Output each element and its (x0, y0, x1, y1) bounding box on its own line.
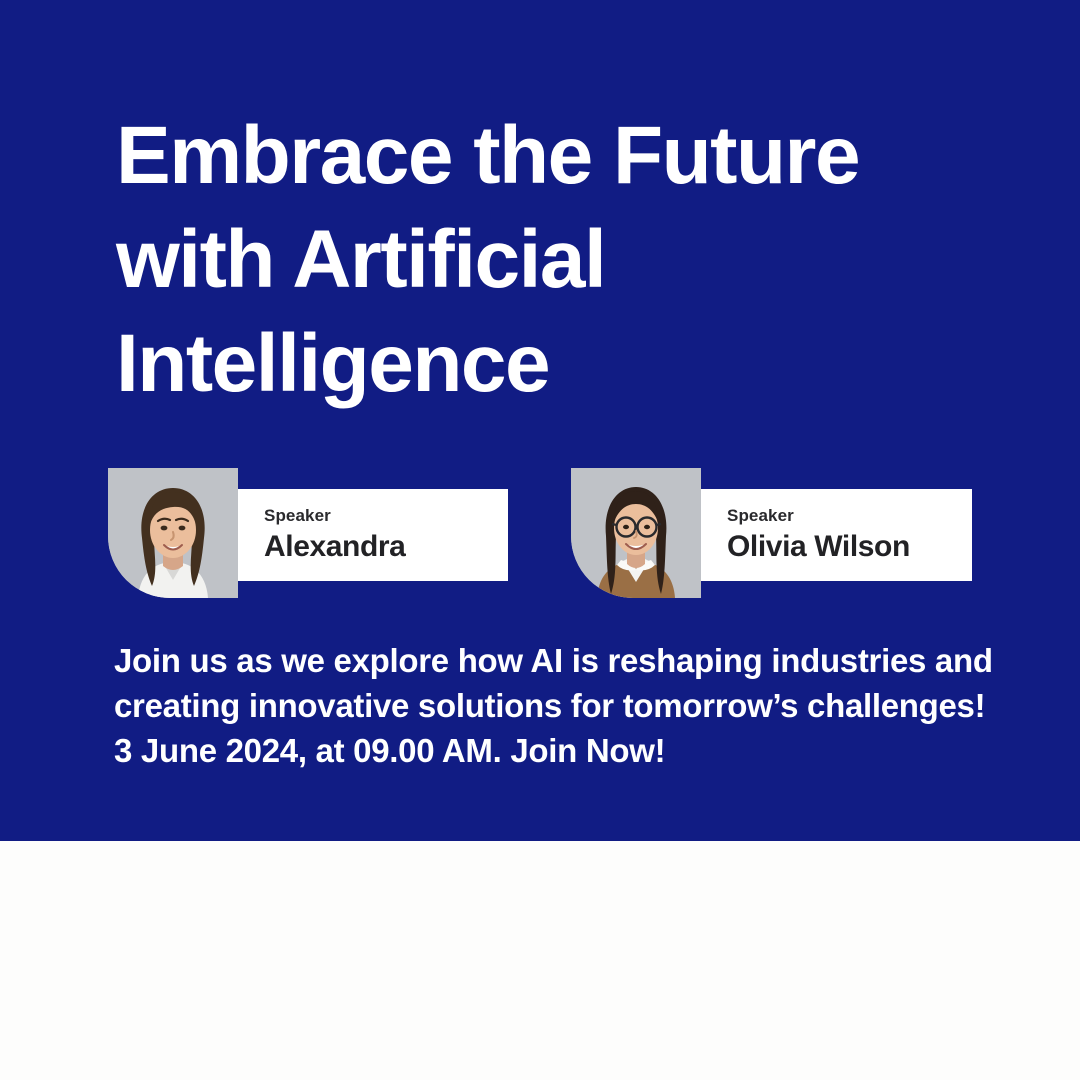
speaker-2-info: Speaker Olivia Wilson (701, 489, 972, 581)
speaker-card-2: Speaker Olivia Wilson (571, 468, 972, 600)
poster-canvas: Embrace the Future with Artificial Intel… (0, 0, 1080, 1080)
event-description: Join us as we explore how AI is reshapin… (114, 638, 994, 773)
speaker-1-avatar (108, 468, 238, 598)
speaker-1-role: Speaker (264, 505, 508, 527)
speaker-2-avatar (571, 468, 701, 598)
speaker-2-name: Olivia Wilson (727, 528, 972, 566)
speaker-1-info: Speaker Alexandra (238, 489, 508, 581)
hero-section: Embrace the Future with Artificial Intel… (0, 0, 1080, 841)
speaker-1-name: Alexandra (264, 528, 508, 566)
speaker-2-role: Speaker (727, 505, 972, 527)
speaker-card-1: Speaker Alexandra (108, 468, 508, 600)
footer-section: Capcut Free Registration! Follow our soc… (0, 841, 1080, 1080)
page-title: Embrace the Future with Artificial Intel… (116, 104, 1016, 416)
